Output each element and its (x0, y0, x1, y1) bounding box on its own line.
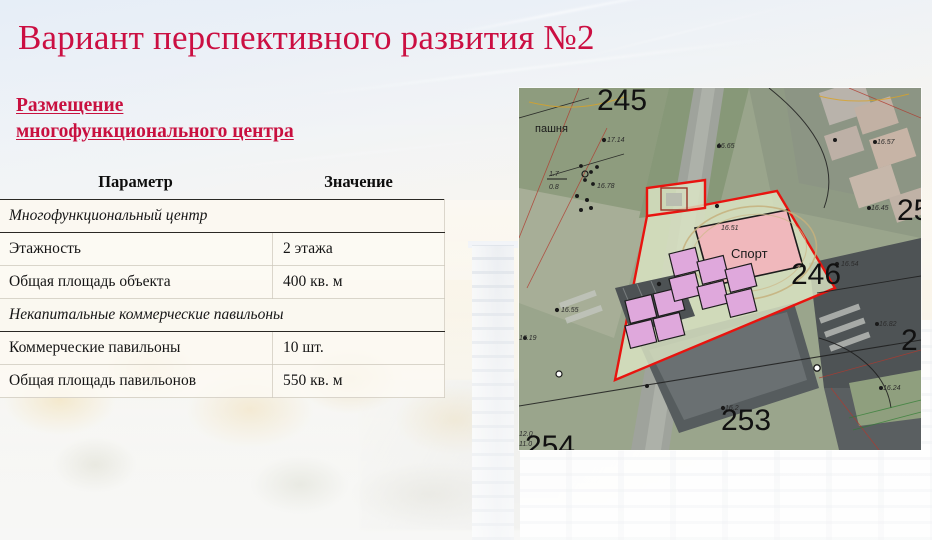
presentation-slide: Вариант перспективного развития №2 Разме… (0, 0, 932, 540)
column-header-param: Параметр (0, 168, 273, 200)
plot-number-254: 254 (525, 430, 575, 450)
slope-numerator: 1.7 (549, 171, 560, 178)
table-body: Многофункциональный центр Этажность 2 эт… (0, 200, 445, 398)
plot-number-246: 246 (791, 258, 841, 291)
table-row: Общая площадь объекта 400 кв. м (0, 266, 445, 299)
parameters-table: Параметр Значение Многофункциональный це… (0, 168, 445, 398)
row-value: 10 шт. (273, 332, 445, 365)
table-row: Этажность 2 этажа (0, 233, 445, 266)
elevation-label: 16.19 (519, 335, 537, 342)
page-title: Вариант перспективного развития №2 (18, 20, 595, 57)
elevation-label: 16.65 (717, 143, 735, 150)
plot-number-2: 2 (901, 324, 918, 357)
table-row: Общая площадь павильонов 550 кв. м (0, 365, 445, 398)
plot-number-253: 253 (721, 404, 771, 437)
elevation-label: 16.57 (877, 139, 896, 146)
subtitle-line-1: Размещение (16, 95, 123, 116)
subtitle-line-2: многофункционального центра (16, 121, 294, 142)
cadastral-map-image: Спорт (519, 88, 921, 450)
elevation-label: 16.78 (597, 183, 615, 190)
row-param: Этажность (0, 233, 273, 266)
elevation-label: 17.14 (607, 137, 625, 144)
table-header-row: Параметр Значение (0, 168, 445, 200)
field-label: пашня (535, 123, 568, 135)
elevation-label: 16.55 (561, 307, 579, 314)
section-label: Многофункциональный центр (0, 200, 445, 233)
slide-subtitle: Размещение многофункционального центра (16, 93, 416, 145)
row-param: Общая площадь павильонов (0, 365, 273, 398)
slope-denominator: 0.8 (549, 184, 559, 191)
plot-number-245: 245 (597, 88, 647, 117)
row-value: 2 этажа (273, 233, 445, 266)
row-value: 400 кв. м (273, 266, 445, 299)
row-param: Общая площадь объекта (0, 266, 273, 299)
elevation-label: 16.51 (721, 225, 739, 232)
map-small-structure-roof (666, 193, 682, 206)
elevation-label: 16.24 (883, 385, 901, 392)
sport-building-label: Спорт (731, 246, 768, 261)
column-header-value: Значение (273, 168, 445, 200)
row-param: Коммерческие павильоны (0, 332, 273, 365)
table-section-row: Многофункциональный центр (0, 200, 445, 233)
row-value: 550 кв. м (273, 365, 445, 398)
table-section-row: Некапитальные коммерческие павильоны (0, 299, 445, 332)
table-header: Параметр Значение (0, 168, 445, 200)
elevation-label: 16.45 (871, 205, 889, 212)
elevation-label: 16.54 (841, 261, 859, 268)
map-svg: Спорт (519, 88, 921, 450)
section-label: Некапитальные коммерческие павильоны (0, 299, 445, 332)
plot-number-25: 25 (897, 194, 921, 227)
table-row: Коммерческие павильоны 10 шт. (0, 332, 445, 365)
elevation-label: 16.82 (879, 321, 897, 328)
